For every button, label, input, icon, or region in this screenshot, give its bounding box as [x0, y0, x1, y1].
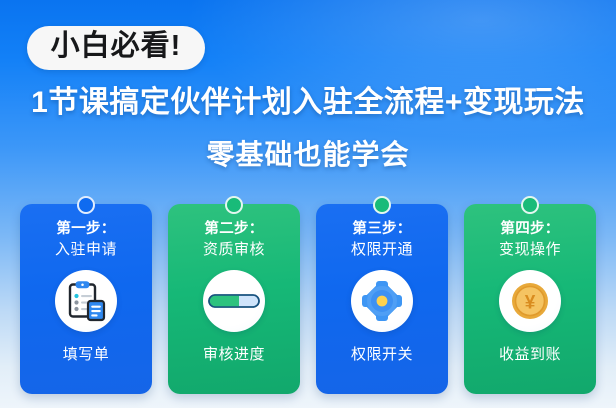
page-subtitle: 零基础也能学会: [0, 140, 616, 171]
highlight-badge-label: 小白必看!: [51, 32, 182, 61]
step-card-1-title: 入驻申请: [55, 240, 117, 260]
promo-poster: 小白必看! 1节课搞定伙伴计划入驻全流程+变现玩法 零基础也能学会 第一步： 入…: [0, 0, 616, 408]
step-card-1-step: 第一步：: [56, 220, 115, 240]
step-card-3-step: 第三步：: [352, 220, 411, 240]
step-card-4-step: 第四步：: [500, 220, 559, 240]
step-card-3-footer: 权限开关: [351, 343, 413, 364]
step-card-2-footer: 审核进度: [203, 343, 265, 364]
step-marker-dot-icon: [521, 196, 539, 214]
step-card-4-footer: 收益到账: [499, 343, 561, 364]
step-card-2[interactable]: 第二步： 资质审核 审核进度: [168, 204, 300, 394]
step-marker-dot-icon: [225, 196, 243, 214]
yen-coin-icon: ¥: [499, 270, 561, 332]
step-card-2-title: 资质审核: [203, 240, 265, 260]
coin-symbol: ¥: [525, 292, 536, 313]
step-card-4[interactable]: 第四步： 变现操作 ¥ 收益到账: [464, 204, 596, 394]
step-card-3[interactable]: 第三步： 权限开通 权限开关: [316, 204, 448, 394]
highlight-badge: 小白必看!: [27, 26, 205, 70]
progress-bar-icon: [203, 270, 265, 332]
step-card-3-title: 权限开通: [351, 240, 413, 260]
step-card-1[interactable]: 第一步： 入驻申请: [20, 204, 152, 394]
steps-row: 第一步： 入驻申请: [20, 204, 596, 396]
page-title: 1节课搞定伙伴计划入驻全流程+变现玩法: [0, 86, 616, 119]
step-marker-dot-icon: [77, 196, 95, 214]
gear-icon: [351, 270, 413, 332]
step-card-2-step: 第二步：: [204, 220, 263, 240]
clipboard-form-icon: [55, 270, 117, 332]
step-card-4-title: 变现操作: [499, 240, 561, 260]
step-card-1-footer: 填写单: [63, 343, 110, 364]
step-marker-dot-icon: [373, 196, 391, 214]
